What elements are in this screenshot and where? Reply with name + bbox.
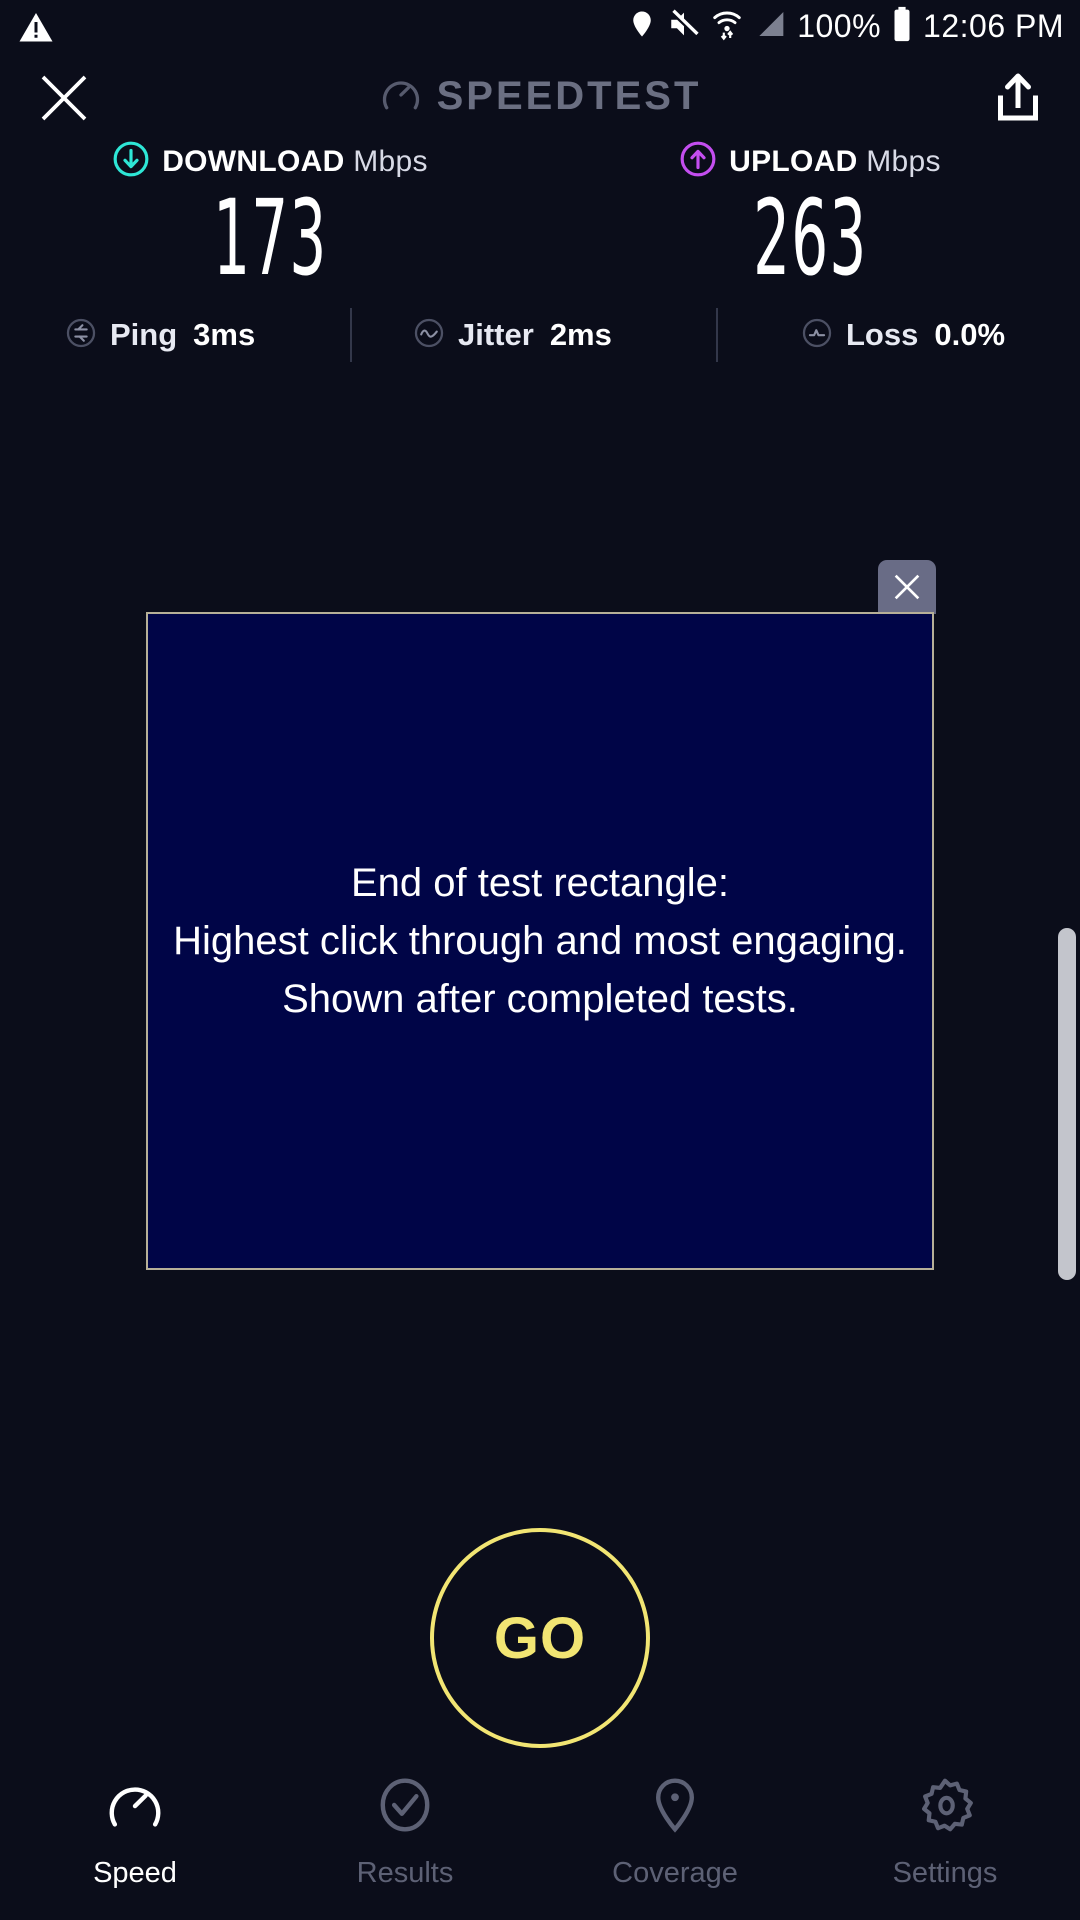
advertisement-banner[interactable]: End of test rectangle: Highest click thr… [146,612,934,1270]
nav-label-coverage: Coverage [612,1857,738,1890]
download-result: DOWNLOAD Mbps 173 [0,140,540,288]
ad-line-2: Highest click through and most engaging. [173,912,907,970]
status-icons: 100% 12:06 PM [627,6,1064,47]
nav-label-results: Results [357,1857,454,1890]
ad-line-1: End of test rectangle: [173,854,907,912]
ping-icon [64,316,98,355]
bottom-navigation: Speed Results Coverage [0,1760,1080,1920]
download-label: DOWNLOAD Mbps [162,145,428,179]
result-summary: DOWNLOAD Mbps 173 UPLOAD Mbps 263 [0,140,1080,288]
loss-value: 0.0% [934,317,1005,353]
app-title: SPEEDTEST [437,74,702,119]
gear-icon [914,1774,976,1841]
battery-full-icon [891,6,913,47]
go-button[interactable]: GO [430,1528,650,1748]
metrics-row: Ping 3ms Jitter 2ms Loss 0.0% [0,305,1080,365]
go-button-label: GO [494,1605,586,1672]
metric-ping: Ping 3ms [64,316,255,355]
upload-result: UPLOAD Mbps 263 [540,140,1080,288]
nav-item-results[interactable]: Results [270,1760,540,1920]
cellular-signal-icon [753,8,787,45]
ping-label: Ping [110,317,177,353]
nav-item-coverage[interactable]: Coverage [540,1760,810,1920]
metric-divider [716,308,718,362]
ad-line-3: Shown after completed tests. [173,970,907,1028]
loss-icon [800,316,834,355]
status-bar: 100% 12:06 PM [0,0,1080,58]
nav-label-speed: Speed [93,1857,177,1890]
jitter-label: Jitter [458,317,534,353]
loss-label: Loss [846,317,918,353]
app-header: SPEEDTEST [0,58,1080,138]
metric-jitter: Jitter 2ms [412,316,612,355]
volume-muted-icon [667,7,701,46]
clock-label: 12:06 PM [923,8,1064,45]
warning-triangle-icon [18,10,54,51]
check-circle-icon [374,1774,436,1841]
share-icon[interactable] [988,68,1048,128]
battery-percent-label: 100% [797,8,881,45]
location-pin-icon [627,6,657,47]
map-pin-icon [644,1774,706,1841]
wifi-icon [711,6,743,47]
speedtest-app-screen: 100% 12:06 PM SPEEDTEST [0,0,1080,1920]
ad-close-icon[interactable] [878,560,936,614]
nav-item-speed[interactable]: Speed [0,1760,270,1920]
jitter-value: 2ms [550,317,612,353]
download-arrow-icon [112,140,150,183]
ping-value: 3ms [193,317,255,353]
vertical-scrollbar[interactable] [1058,928,1076,1280]
speedometer-icon [104,1774,166,1841]
speedometer-icon [379,72,423,121]
metric-divider [350,308,352,362]
brand-logo: SPEEDTEST [0,72,1080,121]
nav-item-settings[interactable]: Settings [810,1760,1080,1920]
metric-loss: Loss 0.0% [800,316,1005,355]
jitter-icon [412,316,446,355]
upload-label: UPLOAD Mbps [729,145,941,179]
ad-text: End of test rectangle: Highest click thr… [173,854,907,1028]
upload-arrow-icon [679,140,717,183]
download-value: 173 [213,189,327,288]
nav-label-settings: Settings [893,1857,998,1890]
upload-value: 263 [753,189,867,288]
